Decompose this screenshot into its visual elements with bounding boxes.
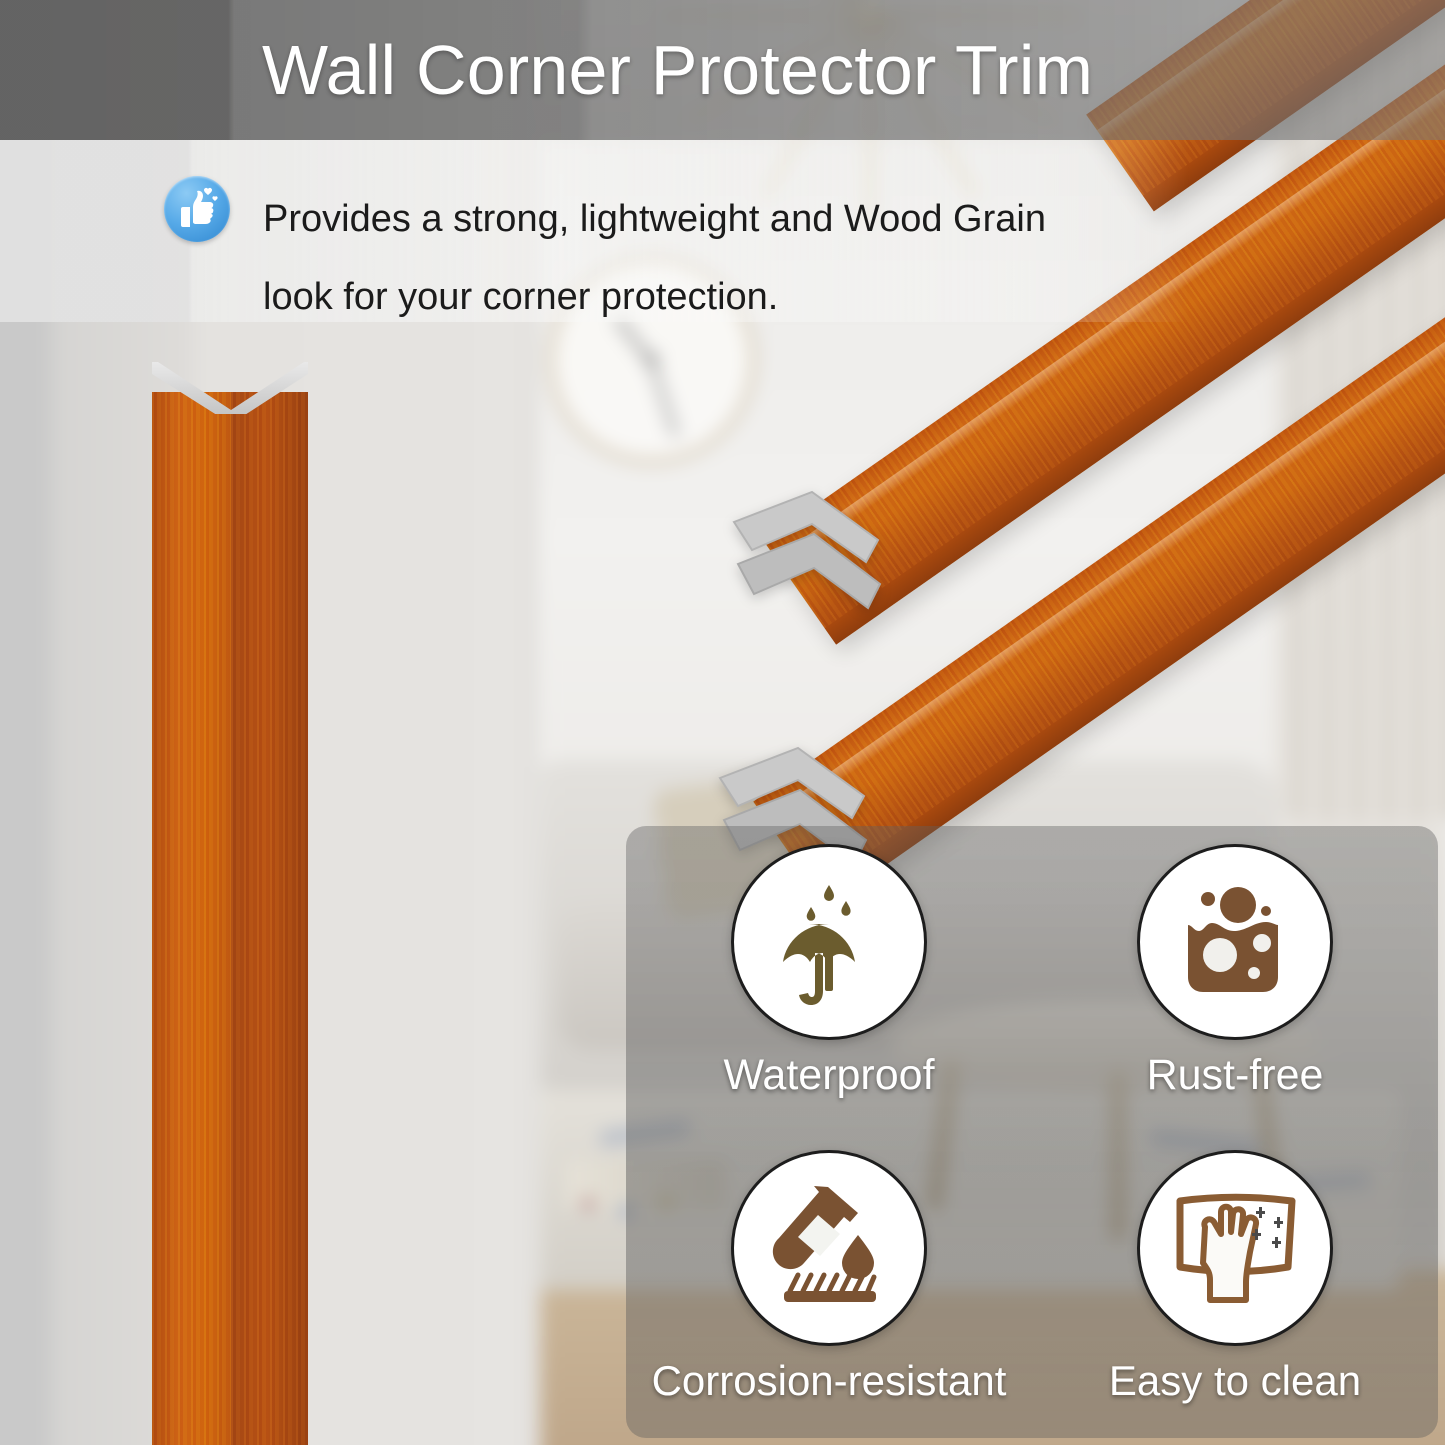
umbrella-rain-icon — [731, 844, 927, 1040]
subhead-text: Provides a strong, lightweight and Wood … — [263, 180, 1193, 336]
wood-grain-texture — [231, 392, 308, 1445]
trim-face-right — [231, 392, 308, 1445]
trim-end-cap-chevron-1 — [728, 488, 918, 628]
liquid-bubbles-icon — [1137, 844, 1333, 1040]
feature-item-easy-to-clean[interactable]: Easy to clean — [1032, 1132, 1438, 1438]
vertical-corner-trim — [152, 362, 308, 1445]
feature-panel: Waterproof — [626, 826, 1438, 1438]
feature-label: Easy to clean — [1109, 1354, 1361, 1408]
feature-item-corrosion-resistant[interactable]: Corrosion-resistant — [626, 1132, 1032, 1438]
product-marketing-image: Wall Corner Protector Trim Provides a st… — [0, 0, 1445, 1445]
feature-label: Waterproof — [723, 1048, 934, 1102]
trim-face-left — [152, 392, 231, 1445]
thumbs-up-icon — [164, 176, 230, 242]
feature-label: Rust-free — [1147, 1048, 1324, 1102]
subhead-line-1: Provides a strong, lightweight and Wood … — [263, 198, 1046, 240]
feature-item-waterproof[interactable]: Waterproof — [626, 826, 1032, 1132]
hand-wipe-sparkle-icon — [1137, 1150, 1333, 1346]
feature-item-rust-free[interactable]: Rust-free — [1032, 826, 1438, 1132]
trim-top-edge-cap — [152, 362, 308, 414]
floor-clutter-dot — [582, 1198, 594, 1210]
feature-label: Corrosion-resistant — [652, 1354, 1007, 1408]
test-tube-drop-icon — [731, 1150, 927, 1346]
feature-grid: Waterproof — [626, 826, 1438, 1438]
page-title: Wall Corner Protector Trim — [262, 28, 1093, 112]
wood-grain-texture — [152, 392, 231, 1445]
subhead-line-2: look for your corner protection. — [263, 258, 1193, 336]
